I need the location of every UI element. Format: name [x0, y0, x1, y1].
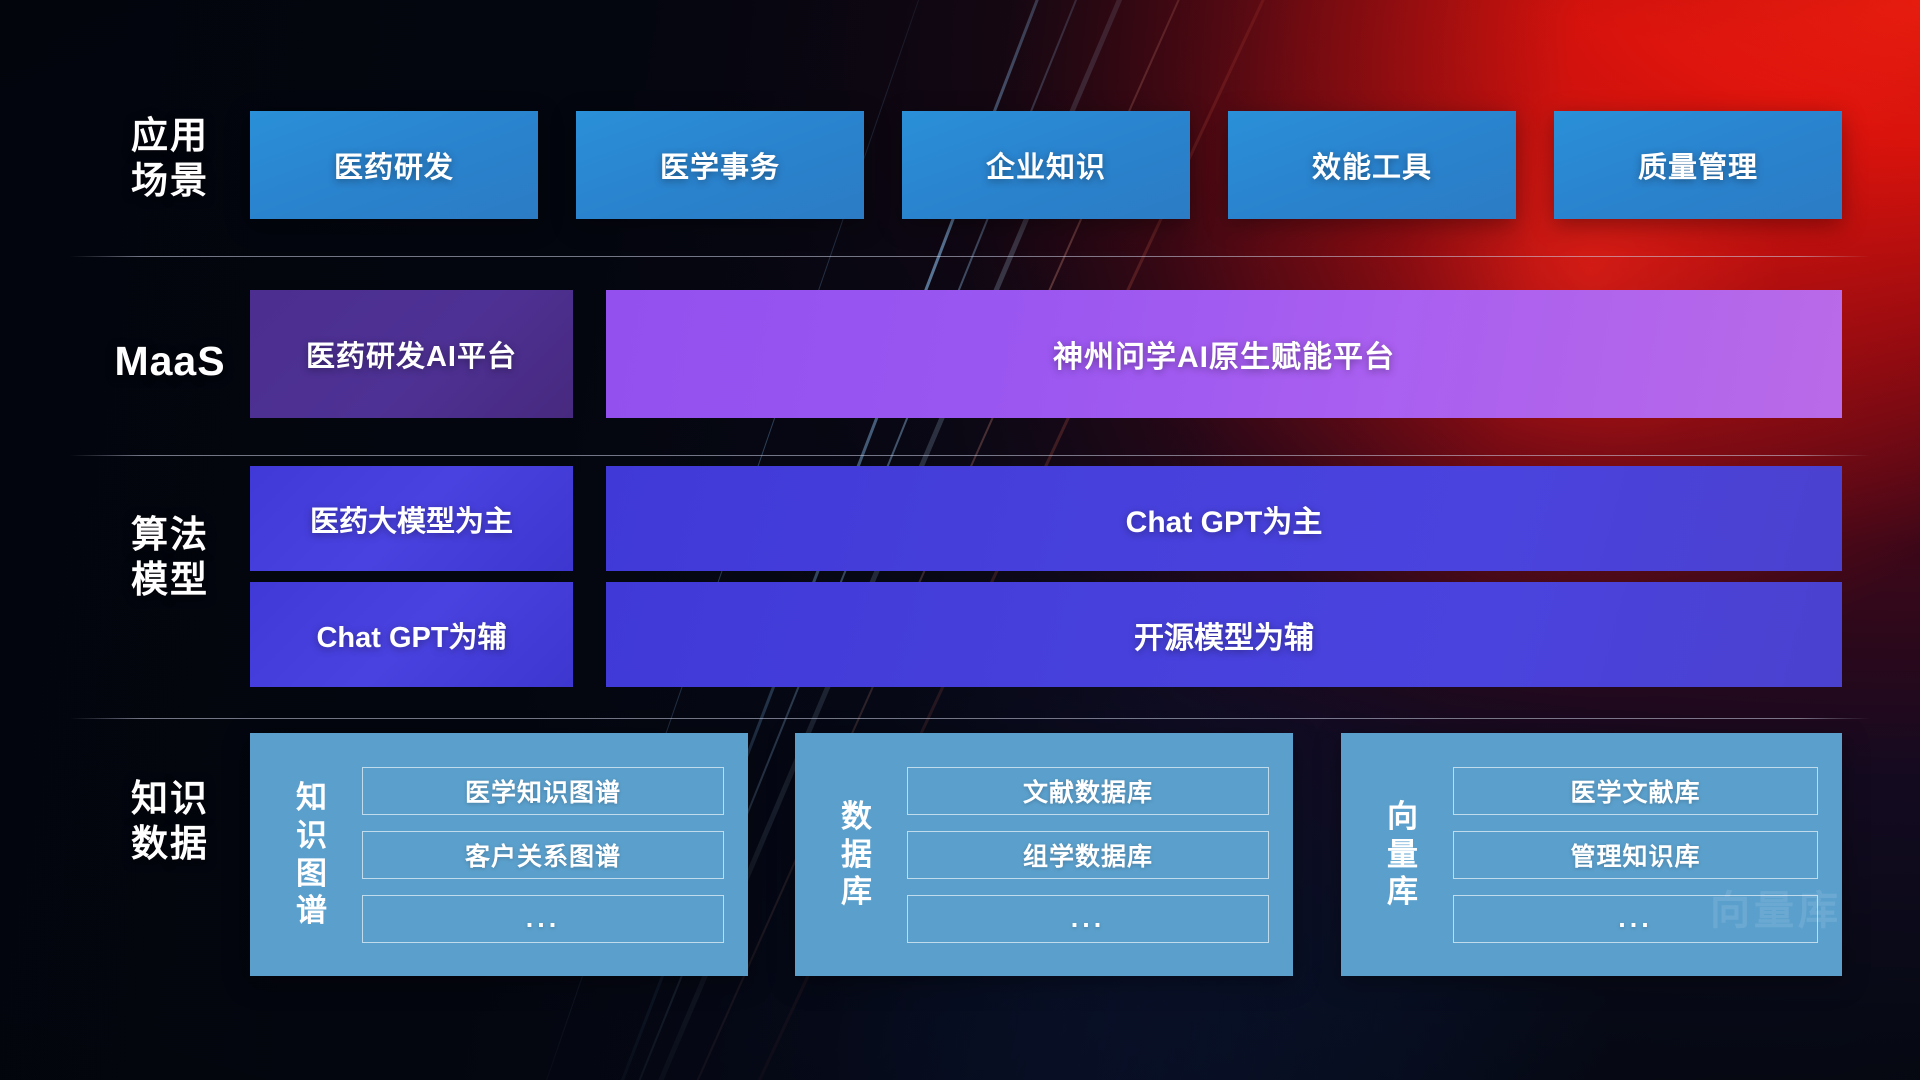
- row-label-line: 场景: [95, 158, 245, 203]
- knowledge-item[interactable]: 医学文献库: [1453, 767, 1818, 815]
- app-tile-label: 医药研发: [334, 144, 454, 186]
- divider-line: [70, 256, 1870, 257]
- row-label-algorithm-model: 算法 模型: [95, 512, 245, 602]
- knowledge-group-title-char: 库: [1363, 873, 1443, 911]
- divider-line: [70, 718, 1870, 719]
- row-label-line: 应用: [95, 113, 245, 158]
- row-label-knowledge-data: 知识 数据: [95, 776, 245, 866]
- app-tile-label: 医学事务: [660, 144, 780, 186]
- knowledge-group-title: 向 量 库: [1363, 798, 1443, 911]
- row-label-line: 知识: [95, 776, 245, 821]
- maas-box-label: 医药研发AI平台: [306, 333, 517, 375]
- knowledge-group-title-char: 库: [817, 873, 897, 911]
- app-tile-label: 质量管理: [1638, 144, 1758, 186]
- row-label-application-scenario: 应用 场景: [95, 113, 245, 203]
- maas-box-label: 神州问学AI原生赋能平台: [1053, 332, 1395, 376]
- algo-box-chatgpt-primary[interactable]: Chat GPT为主: [606, 466, 1842, 571]
- algo-box-label: Chat GPT为主: [1126, 497, 1323, 541]
- app-tile-efficiency-tools[interactable]: 效能工具: [1228, 111, 1516, 219]
- knowledge-group-title-char: 谱: [272, 892, 352, 930]
- knowledge-item[interactable]: 组学数据库: [907, 831, 1269, 879]
- app-tile-label: 效能工具: [1312, 144, 1432, 186]
- knowledge-group-title-char: 数: [817, 798, 897, 836]
- knowledge-group-vector-store[interactable]: 向 量 库 医学文献库 管理知识库 ...: [1341, 733, 1842, 976]
- algo-box-opensource-secondary[interactable]: 开源模型为辅: [606, 582, 1842, 687]
- maas-box-drug-rnd-ai-platform[interactable]: 医药研发AI平台: [250, 290, 573, 418]
- app-tile-drug-rnd[interactable]: 医药研发: [250, 111, 538, 219]
- knowledge-group-title-char: 知: [272, 779, 352, 817]
- knowledge-group-knowledge-graph[interactable]: 知 识 图 谱 医学知识图谱 客户关系图谱 ...: [250, 733, 748, 976]
- row-label-maas: MaaS: [95, 336, 245, 386]
- knowledge-item[interactable]: 客户关系图谱: [362, 831, 724, 879]
- knowledge-item[interactable]: 医学知识图谱: [362, 767, 724, 815]
- app-tile-quality-management[interactable]: 质量管理: [1554, 111, 1842, 219]
- app-tile-label: 企业知识: [986, 144, 1106, 186]
- knowledge-group-title: 数 据 库: [817, 798, 897, 911]
- knowledge-group-database[interactable]: 数 据 库 文献数据库 组学数据库 ...: [795, 733, 1293, 976]
- knowledge-group-title: 知 识 图 谱: [272, 779, 352, 930]
- knowledge-item-more[interactable]: ...: [907, 895, 1269, 943]
- row-label-line: 数据: [95, 821, 245, 866]
- knowledge-group-title-char: 量: [1363, 836, 1443, 874]
- app-tile-medical-affairs[interactable]: 医学事务: [576, 111, 864, 219]
- knowledge-item-list: 文献数据库 组学数据库 ...: [897, 747, 1293, 963]
- algo-box-drug-large-model-primary[interactable]: 医药大模型为主: [250, 466, 573, 571]
- algo-box-label: 医药大模型为主: [310, 498, 513, 540]
- architecture-diagram: 应用 场景 医药研发 医学事务 企业知识 效能工具 质量管理 MaaS 医药研发…: [0, 0, 1920, 1080]
- watermark-text: 向量库: [1710, 878, 1842, 936]
- knowledge-item-more[interactable]: ...: [362, 895, 724, 943]
- knowledge-item[interactable]: 管理知识库: [1453, 831, 1818, 879]
- maas-box-shenzhou-wenxue-platform[interactable]: 神州问学AI原生赋能平台: [606, 290, 1842, 418]
- divider-line: [70, 455, 1870, 456]
- app-tile-enterprise-knowledge[interactable]: 企业知识: [902, 111, 1190, 219]
- row-label-line: 模型: [95, 557, 245, 602]
- knowledge-group-title-char: 向: [1363, 798, 1443, 836]
- algo-box-label: 开源模型为辅: [1134, 613, 1314, 657]
- knowledge-group-title-char: 识: [272, 817, 352, 855]
- knowledge-group-title-char: 据: [817, 836, 897, 874]
- knowledge-item[interactable]: 文献数据库: [907, 767, 1269, 815]
- row-label-line: MaaS: [95, 336, 245, 386]
- knowledge-group-title-char: 图: [272, 855, 352, 893]
- algo-box-label: Chat GPT为辅: [316, 614, 506, 656]
- row-label-line: 算法: [95, 512, 245, 557]
- algo-box-chatgpt-secondary[interactable]: Chat GPT为辅: [250, 582, 573, 687]
- knowledge-item-list: 医学知识图谱 客户关系图谱 ...: [352, 747, 748, 963]
